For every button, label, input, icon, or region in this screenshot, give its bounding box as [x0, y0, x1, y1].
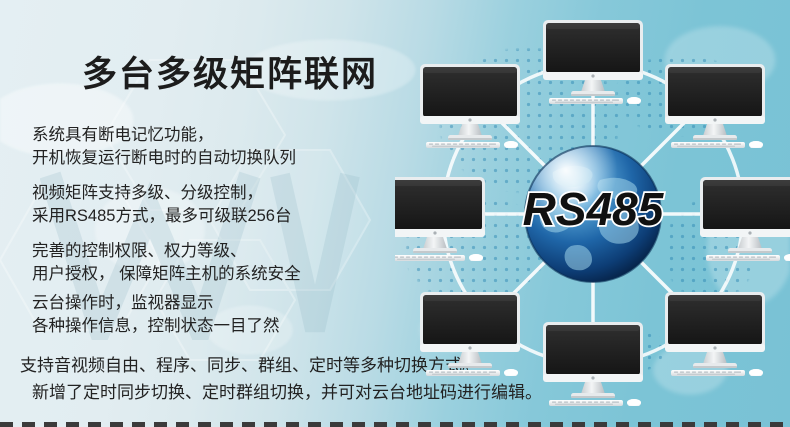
feature-line: 开机恢复运行断电时的自动切换队列 [32, 147, 296, 170]
node-right-computer-icon[interactable] [700, 177, 790, 262]
feature-permissions: 完善的控制权限、权力等级、 用户授权， 保障矩阵主机的系统安全 [32, 240, 301, 286]
feature-line: 云台操作时，监视器显示 [32, 292, 280, 315]
page-title: 多台多级矩阵联网 [82, 46, 378, 97]
node-bottom-right-computer-icon[interactable] [665, 292, 765, 377]
rs485-hub[interactable]: RS485 [523, 146, 665, 282]
feature-line: 各种操作信息，控制状态一目了然 [32, 315, 280, 338]
feature-line: 用户授权， 保障矩阵主机的系统安全 [32, 263, 301, 286]
feature-multi-level: 视频矩阵支持多级、分级控制， 采用RS485方式，最多可级联256台 [32, 182, 291, 228]
node-top-left-computer-icon[interactable] [420, 64, 520, 149]
feature-line: 完善的控制权限、权力等级、 [32, 240, 301, 263]
promo-banner: 多台多级矩阵联网 系统具有断电记忆功能， 开机恢复运行断电时的自动切换队列 视频… [0, 0, 790, 427]
bottom-dashed-divider [0, 422, 790, 427]
node-top-right-computer-icon[interactable] [665, 64, 765, 149]
node-left-computer-icon[interactable] [395, 177, 485, 262]
feature-line: 视频矩阵支持多级、分级控制， [32, 182, 291, 205]
hub-label: RS485 [523, 183, 665, 235]
feature-ptz-monitor: 云台操作时，监视器显示 各种操作信息，控制状态一目了然 [32, 292, 280, 338]
node-top-computer-icon[interactable] [543, 20, 643, 105]
rs485-network-diagram: RS485 [395, 0, 790, 427]
node-bottom-left-computer-icon[interactable] [420, 292, 520, 377]
feature-line: 采用RS485方式，最多可级联256台 [32, 205, 291, 228]
node-bottom-computer-icon[interactable] [543, 322, 643, 407]
feature-power-memory: 系统具有断电记忆功能， 开机恢复运行断电时的自动切换队列 [32, 124, 296, 170]
feature-line: 系统具有断电记忆功能， [32, 124, 296, 147]
